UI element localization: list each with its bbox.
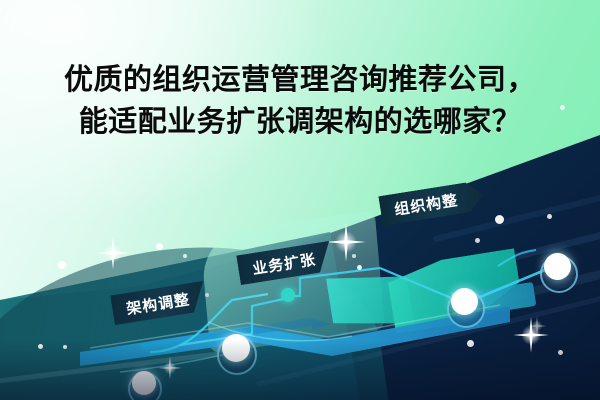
stardust-dot bbox=[156, 243, 163, 250]
headline-line-1: 优质的组织运营管理咨询推荐公司， bbox=[64, 62, 536, 96]
badge-label: 架构调整 bbox=[125, 288, 192, 319]
badge-label: 组织构整 bbox=[393, 189, 460, 220]
stardust-dot bbox=[475, 238, 480, 243]
stardust-dot bbox=[357, 265, 362, 270]
poster-headline: 优质的组织运营管理咨询推荐公司， 能适配业务扩张调架构的选哪家？ bbox=[0, 58, 600, 142]
poster-canvas: 优质的组织运营管理咨询推荐公司， 能适配业务扩张调架构的选哪家？ 架构调整 业务… bbox=[0, 0, 600, 400]
stardust-dot bbox=[547, 214, 552, 219]
path-node bbox=[451, 288, 478, 315]
stardust-dot bbox=[205, 293, 209, 297]
stardust-dot bbox=[495, 215, 504, 224]
stardust-dot bbox=[352, 254, 356, 258]
stardust-dot bbox=[183, 254, 187, 258]
path-node-accent bbox=[281, 288, 295, 302]
badge-label: 业务扩张 bbox=[251, 248, 318, 279]
path-node bbox=[544, 253, 571, 280]
headline-line-2: 能适配业务扩张调架构的选哪家？ bbox=[0, 100, 600, 142]
stardust-dot bbox=[58, 261, 66, 269]
bottom-fade-overlay bbox=[0, 340, 600, 400]
